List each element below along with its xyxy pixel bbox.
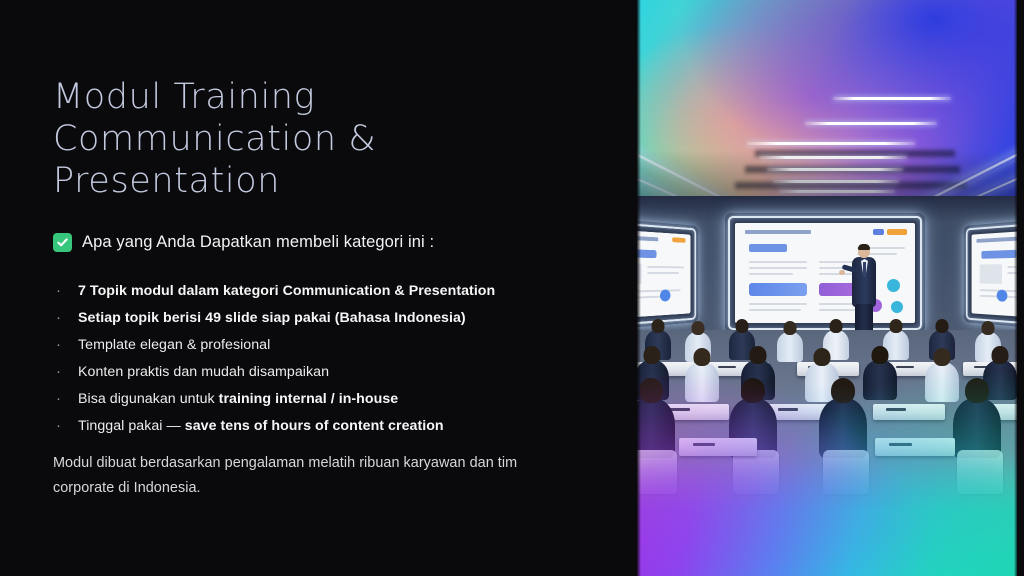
screen-content [735, 223, 915, 323]
screen-content [972, 229, 1017, 319]
screen-line [647, 266, 684, 268]
screen-title-bar [976, 237, 1017, 243]
screen-tag [749, 244, 787, 252]
desk [873, 404, 945, 420]
screen-badge [873, 229, 884, 235]
attendee [925, 362, 959, 402]
screen-line [749, 303, 807, 305]
attendee [777, 332, 803, 362]
list-item-lead: Tinggal pakai — [78, 418, 185, 434]
screen-card [749, 283, 807, 296]
list-item-lead: Bisa digunakan untuk [78, 391, 219, 407]
screen-line [637, 289, 681, 293]
attendee [819, 398, 867, 458]
attendee-head [644, 346, 661, 364]
screen-badge [887, 229, 907, 235]
screen-title-bar [745, 230, 811, 234]
subheading-row: Apa yang Anda Dapatkan membeli kategori … [53, 233, 434, 252]
screen-node [891, 301, 903, 313]
attendee [685, 362, 719, 402]
list-item: · Setiap topik berisi 49 slide siap paka… [56, 304, 601, 331]
screen-line [749, 273, 793, 275]
list-item: · Template elegan & profesional [56, 331, 601, 358]
page-title: Modul Training Communication & Presentat… [53, 76, 593, 202]
attendee-head [831, 378, 855, 403]
chair [637, 450, 677, 494]
desk [679, 438, 757, 456]
green-check-box-icon [53, 233, 72, 252]
attendee-head [992, 346, 1009, 364]
attendee-head [694, 348, 711, 366]
screen-line [749, 309, 801, 311]
attendee-head [692, 321, 705, 335]
attendee-head [830, 319, 843, 333]
presentation-slide: Modul Training Communication & Presentat… [0, 0, 1024, 576]
list-item-label: 7 Topik modul dalam kategori Communicati… [78, 278, 495, 305]
list-item-emphasis: save tens of hours of content creation [185, 418, 444, 434]
attendee-head [814, 348, 831, 366]
slide-content-column: Modul Training Communication & Presentat… [0, 0, 637, 576]
bullet-dot-icon: · [56, 412, 78, 439]
ceiling-light-strip [747, 142, 915, 145]
list-item-label: Tinggal pakai — save tens of hours of co… [78, 413, 444, 440]
presentation-screen-left [637, 217, 698, 330]
chair [957, 450, 1003, 494]
attendee-head [750, 346, 767, 364]
chair [733, 450, 779, 494]
list-item-label: Bisa digunakan untuk training internal /… [78, 386, 398, 413]
bullet-dot-icon: · [56, 331, 78, 358]
benefits-list: · 7 Topik modul dalam kategori Communica… [56, 277, 601, 439]
attendee [953, 398, 1001, 458]
list-item-label: Setiap topik berisi 49 slide siap pakai … [78, 305, 466, 332]
subheading-text: Apa yang Anda Dapatkan membeli kategori … [82, 233, 434, 252]
screen-line [647, 272, 679, 274]
presenter-hand [839, 270, 845, 275]
attendee-head [965, 378, 989, 403]
list-item: · Bisa digunakan untuk training internal… [56, 385, 601, 412]
desk [875, 438, 955, 456]
attendee-head [741, 378, 765, 403]
presenter-tie [863, 262, 866, 277]
bullet-dot-icon: · [56, 304, 78, 331]
screen-block [980, 264, 1002, 284]
screen-node [660, 290, 670, 302]
bullet-dot-icon: · [56, 385, 78, 412]
photo-edge-left [637, 0, 641, 576]
screen-badge [672, 237, 685, 243]
attendee-head [934, 348, 951, 366]
screen-node [887, 279, 900, 292]
attendee-head [982, 321, 995, 335]
list-item-emphasis: training internal / in-house [219, 391, 399, 407]
ceiling-light-strip [805, 122, 937, 125]
attendee-head [784, 321, 797, 335]
screen-content [637, 229, 690, 319]
list-item-label: Template elegan & profesional [78, 332, 270, 359]
attendee-head [872, 346, 889, 364]
list-item: · Konten praktis dan mudah disampaikan [56, 358, 601, 385]
attendee-head [639, 378, 663, 403]
attendee-head [652, 319, 665, 333]
screen-line [749, 267, 807, 269]
attendee [863, 360, 897, 400]
bullet-dot-icon: · [56, 277, 78, 304]
list-item: · 7 Topik modul dalam kategori Communica… [56, 277, 601, 304]
list-item-label: Konten praktis dan mudah disampaikan [78, 359, 329, 386]
ceiling-light-strip [833, 97, 951, 100]
presenter-figure [849, 244, 879, 336]
training-room-photo [637, 0, 1017, 576]
chair [823, 450, 869, 494]
attendee-head [736, 319, 749, 333]
screen-node [997, 290, 1008, 302]
attendee-head [890, 319, 903, 333]
screen-tag [981, 250, 1016, 259]
presentation-screen-right [964, 217, 1017, 330]
attendee-head [936, 319, 949, 333]
screen-line [749, 261, 807, 263]
bullet-dot-icon: · [56, 358, 78, 385]
slide-right-margin [1017, 0, 1024, 576]
attendee [637, 398, 675, 458]
presenter-hair [858, 244, 870, 250]
list-item: · Tinggal pakai — save tens of hours of … [56, 412, 601, 439]
presentation-screen-center [725, 213, 925, 333]
footnote-text: Modul dibuat berdasarkan pengalaman mela… [53, 451, 543, 501]
